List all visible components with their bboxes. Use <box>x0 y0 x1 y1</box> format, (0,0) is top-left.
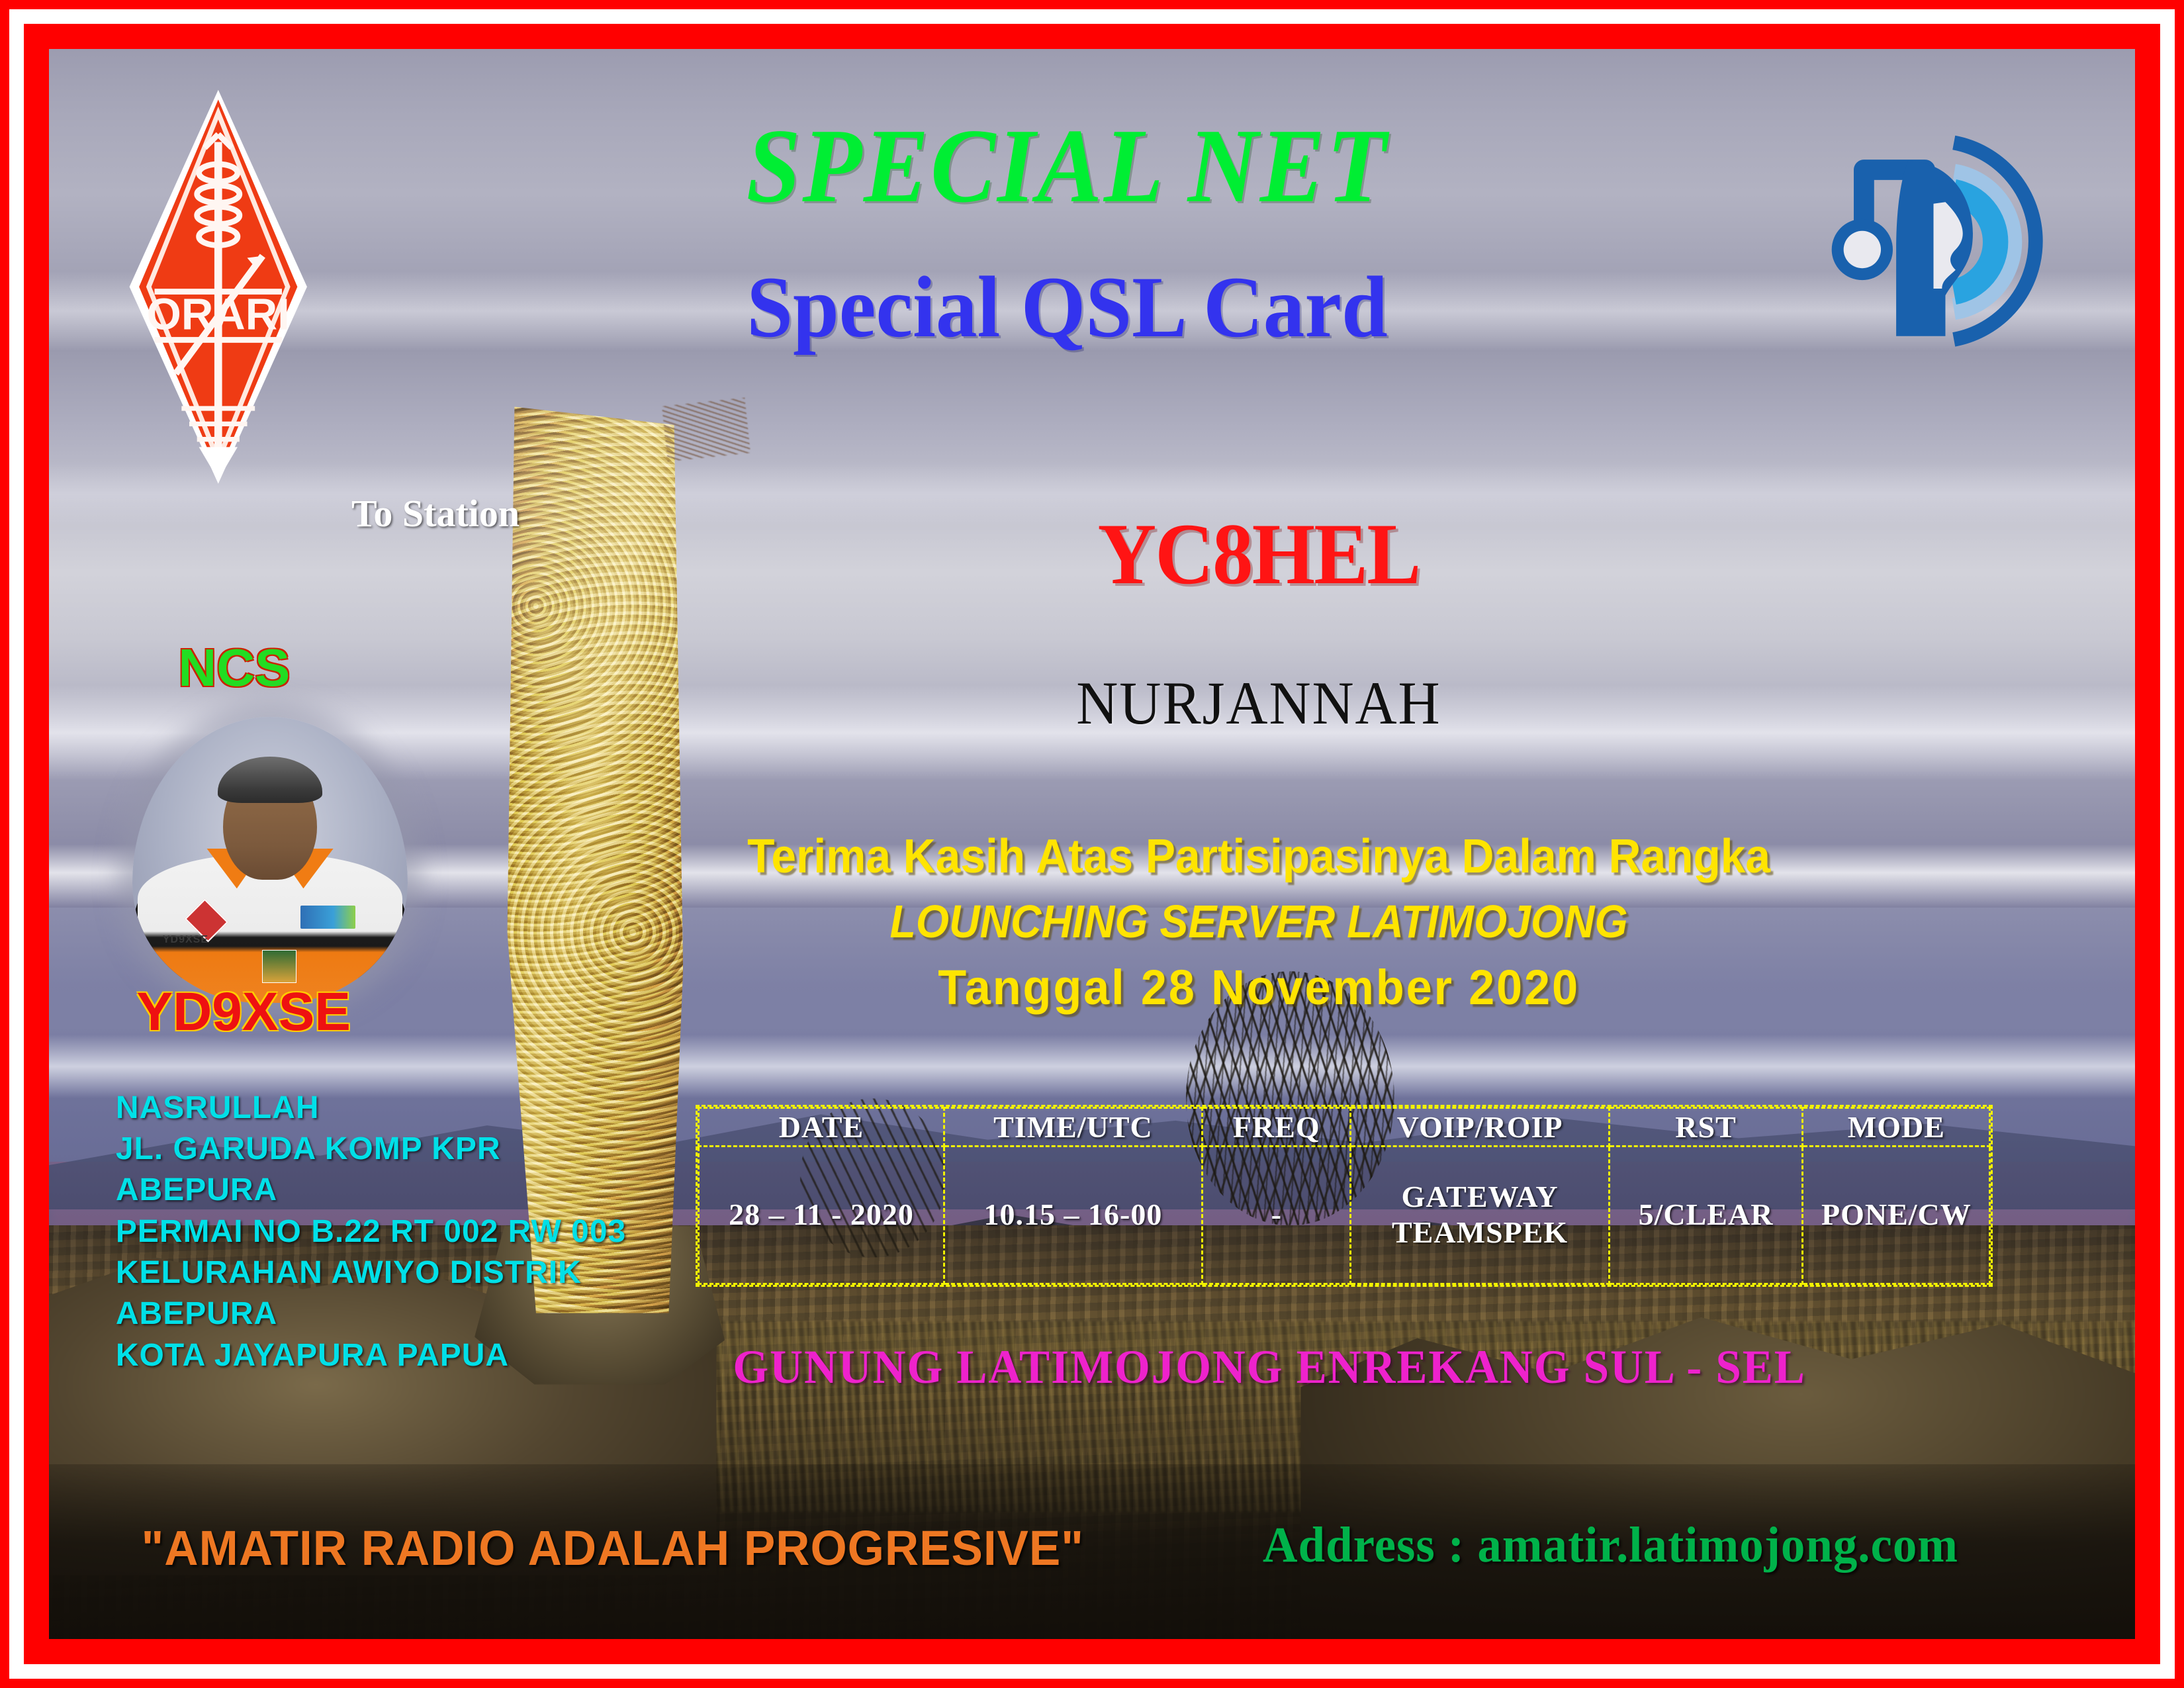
card-white-frame: ORARI <box>9 9 2175 1679</box>
card-background-photo: ORARI <box>49 49 2135 1639</box>
cell-freq: - <box>1203 1146 1351 1284</box>
footer-address: Address : amatir.latimojong.com <box>1263 1517 1958 1574</box>
column-header-mode: MODE <box>1803 1107 1990 1146</box>
address-line: ABEPURA <box>116 1293 700 1335</box>
address-line: KELURAHAN AWIYO DISTRIK <box>116 1252 700 1293</box>
thanks-line-1: Terima Kasih Atas Partisipasinya Dalam R… <box>690 833 1827 880</box>
heading-special-net: SPECIAL NET <box>529 113 1604 218</box>
address-line: ABEPURA <box>116 1170 700 1211</box>
thanks-line-3: Tanggal 28 November 2020 <box>684 963 1834 1012</box>
orari-logo-text: ORARI <box>146 289 289 339</box>
column-header-date: DATE <box>699 1107 944 1146</box>
cell-mode: PONE/CW <box>1803 1146 1990 1284</box>
column-header-voip: VOIP/ROIP <box>1351 1107 1609 1146</box>
cell-date: 28 – 11 - 2020 <box>699 1146 944 1284</box>
location-line: GUNUNG LATIMOJONG ENREKANG SUL - SEL <box>688 1340 1850 1395</box>
photo-id-card <box>262 950 296 983</box>
cell-voip: GATEWAY TEAMSPEK <box>1351 1146 1609 1284</box>
cell-voip-line1: GATEWAY <box>1352 1179 1607 1215</box>
address-line: KOTA JAYAPURA PAPUA <box>116 1335 700 1376</box>
cell-rst: 5/CLEAR <box>1609 1146 1803 1284</box>
address-block: NASRULLAH JL. GARUDA KOMP KPR ABEPURA PE… <box>116 1088 700 1377</box>
photo-uniform-patch <box>300 906 355 929</box>
station-callsign: YC8HEL <box>852 510 1666 598</box>
orari-logo: ORARI <box>112 84 325 490</box>
column-header-time: TIME/UTC <box>944 1107 1202 1146</box>
radio-operator-logo <box>1827 90 2081 392</box>
address-line: NASRULLAH <box>116 1088 700 1129</box>
table-header-row: DATE TIME/UTC FREQ VOIP/ROIP RST MODE <box>699 1107 1990 1146</box>
heading-special-qsl-card: Special QSL Card <box>512 263 1622 351</box>
thanks-line-2: LOUNCHING SERVER LATIMOJONG <box>702 898 1815 945</box>
cell-time: 10.15 – 16-00 <box>944 1146 1202 1284</box>
column-header-freq: FREQ <box>1203 1107 1351 1146</box>
cell-voip-line2: TEAMSPEK <box>1352 1215 1607 1250</box>
ncs-label: NCS <box>178 637 290 698</box>
table-row: 28 – 11 - 2020 10.15 – 16-00 - GATEWAY T… <box>699 1146 1990 1284</box>
footer-slogan: "AMATIR RADIO ADALAH PROGRESIVE" <box>142 1520 1084 1576</box>
to-station-label: To Station <box>351 491 520 536</box>
ncs-callsign: YD9XSE <box>136 981 351 1043</box>
address-line: PERMAI NO B.22 RT 002 RW 003 <box>116 1211 700 1252</box>
card-inner-red-frame: ORARI <box>24 24 2160 1664</box>
qsl-card: ORARI <box>0 0 2184 1688</box>
address-line: JL. GARUDA KOMP KPR <box>116 1129 700 1170</box>
ncs-operator-photo: YD9XSE <box>132 717 408 1003</box>
photo-shirt-callsign: YD9XSE <box>163 934 208 946</box>
content-layer: ORARI <box>49 49 2135 1639</box>
column-header-rst: RST <box>1609 1107 1803 1146</box>
qso-details-table: DATE TIME/UTC FREQ VOIP/ROIP RST MODE 28… <box>696 1105 1993 1287</box>
station-operator-name: NURJANNAH <box>842 673 1675 733</box>
